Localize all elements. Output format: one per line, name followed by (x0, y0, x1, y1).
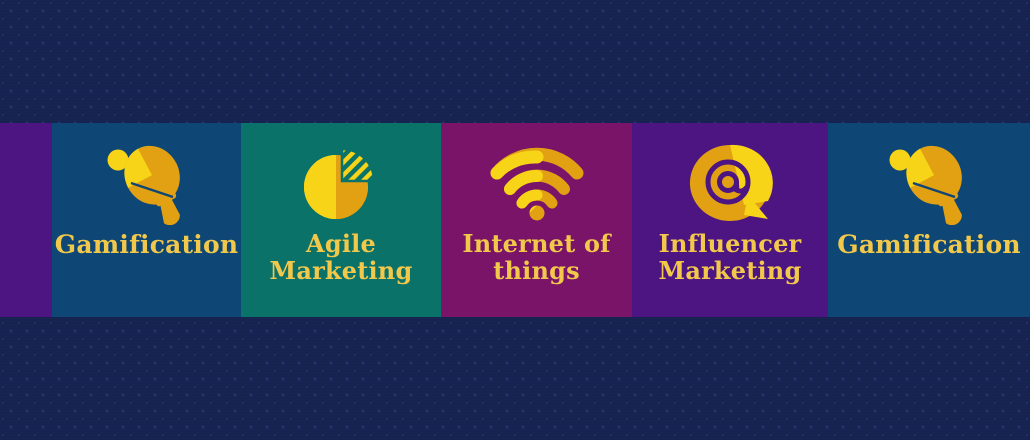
carousel-card-label: Gamification (831, 231, 1026, 259)
ping-pong-paddle-icon (101, 143, 193, 225)
carousel-card-agile-marketing[interactable]: Agile Marketing (241, 123, 441, 317)
carousel-card-label: Gamification (52, 231, 241, 259)
buzzword-carousel[interactable]: Influencer Marketing (0, 123, 1030, 317)
carousel-card-influencer-marketing[interactable]: Influencer Marketing (632, 123, 828, 317)
ping-pong-paddle-icon (883, 143, 975, 225)
carousel-card-label: Agile Marketing (264, 231, 419, 285)
carousel-page: Influencer Marketing (0, 0, 1030, 440)
carousel-card-gamification[interactable]: Gamification (52, 123, 241, 317)
carousel-card-internet-of-things[interactable]: Internet of things (441, 123, 632, 317)
carousel-card-gamification-2[interactable]: Gamification (828, 123, 1030, 317)
pie-chart-icon (296, 143, 386, 225)
wifi-signal-icon (487, 143, 587, 225)
at-speech-bubble-icon (682, 143, 778, 225)
carousel-card-influencer-marketing-clipped[interactable]: Influencer Marketing (0, 123, 52, 317)
carousel-card-label: Internet of things (456, 231, 616, 285)
carousel-card-label: Influencer Marketing (653, 231, 808, 285)
